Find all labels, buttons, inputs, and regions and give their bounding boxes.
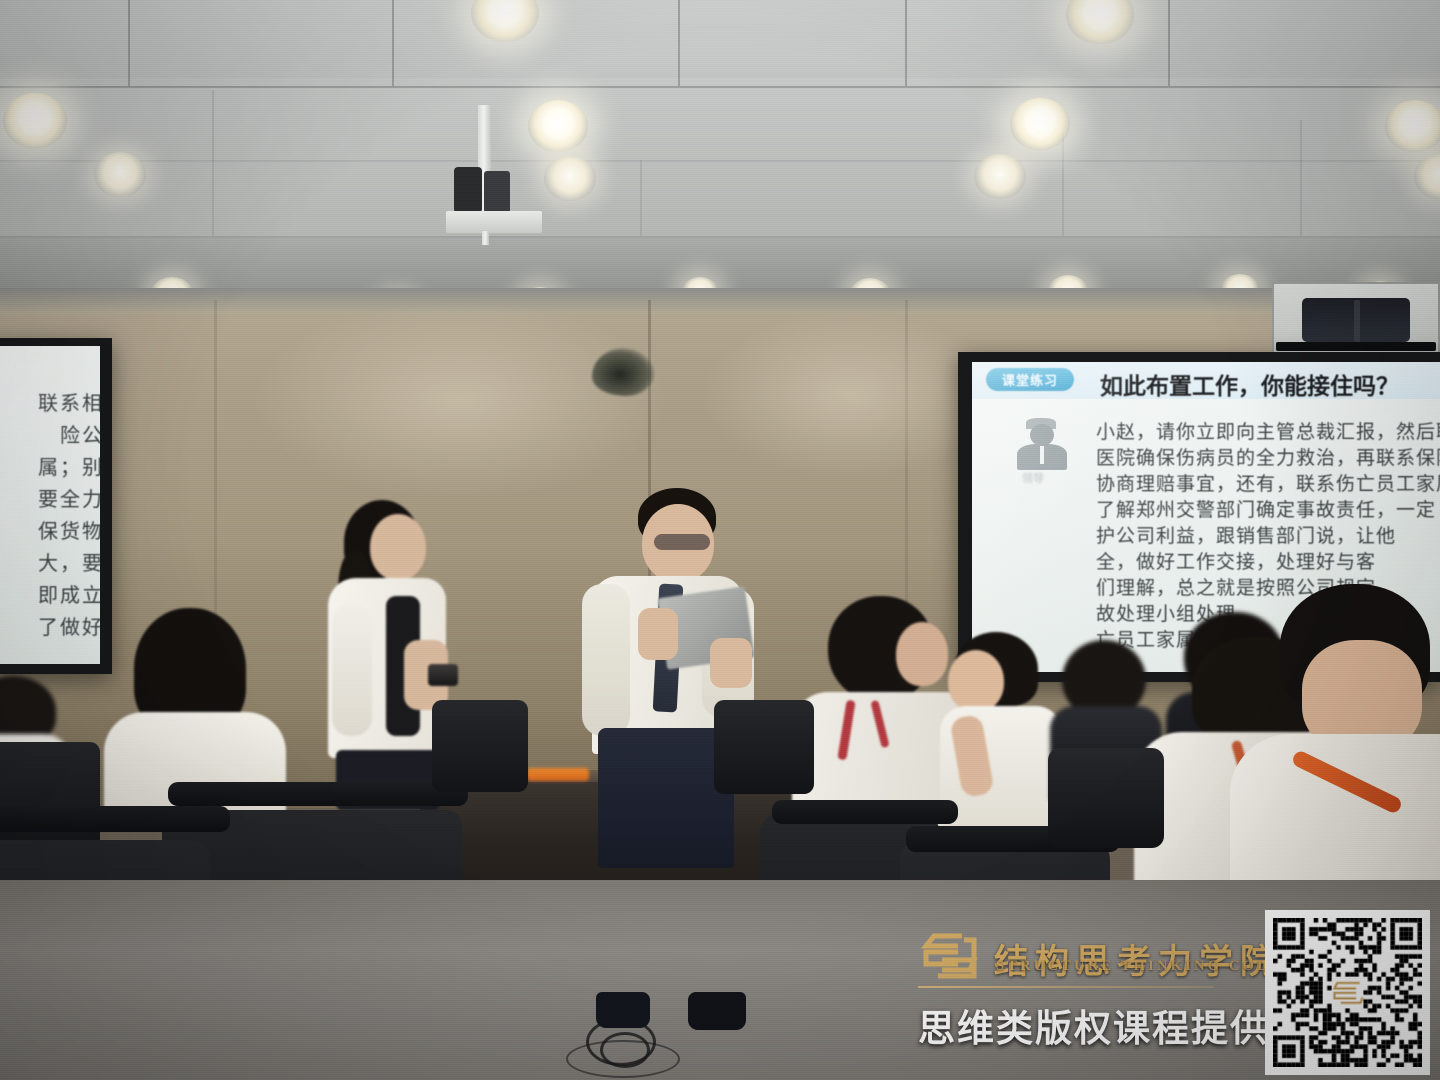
mount-stub [482, 231, 489, 245]
shoe-right [688, 992, 746, 1030]
head [948, 650, 1004, 712]
slide-text-line: 护公司利益，跟销售部门说，让他 [1096, 524, 1440, 550]
ceiling-projector-mount [430, 105, 550, 240]
ceiling-grid-line [0, 86, 1440, 88]
chair-armrest[interactable] [0, 806, 230, 832]
ceiling-light [1385, 100, 1440, 152]
chair[interactable] [714, 700, 814, 794]
slide-badge: 课堂练习 [986, 368, 1074, 391]
classroom-photo-scene: 联系相关险公司属；别忘要全力维保货物安大，要他即成立事了做好防 课堂练习 如此布… [0, 0, 1440, 1080]
slide-text-line: 险公司 [0, 420, 100, 452]
ceiling-band-upper [0, 0, 1440, 78]
slide-text-line: 大，要他 [0, 548, 100, 580]
ceiling-light [974, 154, 1026, 199]
carpet-floor [0, 880, 1440, 1080]
slide-text-line: 联系相关 [0, 388, 100, 420]
ceiling-grid-line [1300, 120, 1302, 236]
slide-text-line: 保货物安 [0, 516, 100, 548]
ceiling-grid-line [905, 0, 907, 86]
slide-title: 如此布置工作，你能接住吗？ [1100, 367, 1399, 401]
ceiling-light [1010, 98, 1070, 150]
shoe-left [596, 992, 650, 1028]
ceiling-grid-line [0, 160, 1440, 162]
ceiling-light [3, 93, 67, 148]
projector-lens-divider [1354, 300, 1360, 342]
projector-body-secondary [484, 171, 510, 213]
ceiling-grid-line [640, 160, 642, 236]
ceiling-grid-line [0, 236, 1440, 238]
phone-in-hand [428, 664, 458, 686]
slide-text-line: 医院确保伤病员的全力救治，再联系保险公 [1096, 446, 1440, 472]
ceiling-grid-line [1168, 0, 1170, 86]
eyeglasses [654, 534, 710, 550]
slide-text-line: 协商理赔事宜，还有，联系伤亡员工家属 [1096, 472, 1440, 498]
slide-avatar-icon: 领导 [1016, 418, 1068, 480]
mount-plate [446, 211, 542, 233]
ceiling [0, 0, 1440, 300]
ceiling-grid-line [392, 0, 394, 86]
ceiling-grid-line [128, 0, 130, 86]
avatar-name-label: 领导 [1022, 470, 1044, 486]
avatar-tie [1040, 446, 1044, 464]
screen-surface-left: 联系相关险公司属；别忘要全力维保货物安大，要他即成立事了做好防 [0, 346, 100, 664]
projector-shadow-bar [1276, 342, 1436, 351]
ceiling-grid-line [212, 90, 214, 236]
chair[interactable] [1048, 748, 1164, 848]
chair-armrest[interactable] [168, 782, 468, 806]
slide-text-line: 了解郑州交警部门确定事故责任，一定 [1096, 498, 1440, 524]
arm-left [582, 584, 630, 736]
hand-right [710, 638, 752, 688]
slide-text-line: 即成立事 [0, 580, 100, 612]
slide-text-line: 要全力维 [0, 484, 100, 516]
ceiling-grid-line [678, 0, 680, 86]
ceiling-band-mid [0, 78, 1440, 238]
chair[interactable] [432, 700, 528, 792]
hand-left [638, 608, 678, 660]
slide-text-line: 全，做好工作交接，处理好与客 [1096, 550, 1440, 576]
head [370, 514, 426, 580]
chair-armrest[interactable] [772, 800, 958, 824]
slide-left-text: 联系相关险公司属；别忘要全力维保货物安大，要他即成立事了做好防 [0, 388, 100, 644]
projector-body [454, 167, 482, 213]
slide-text-line: 属；别忘 [0, 452, 100, 484]
wall-seam [214, 300, 217, 660]
slide-text-line: 了做好防 [0, 612, 100, 644]
slide-text-line: 小赵，请你立即向主管总裁汇报，然后联系 [1096, 420, 1440, 446]
slide-left: 联系相关险公司属；别忘要全力维保货物安大，要他即成立事了做好防 [0, 346, 100, 664]
ceiling-light [94, 152, 146, 197]
ceiling-light [544, 156, 596, 201]
avatar-head [1030, 424, 1054, 446]
coiled-cable [566, 1040, 680, 1078]
arm-left [332, 604, 372, 736]
decorative-plant [592, 348, 654, 396]
